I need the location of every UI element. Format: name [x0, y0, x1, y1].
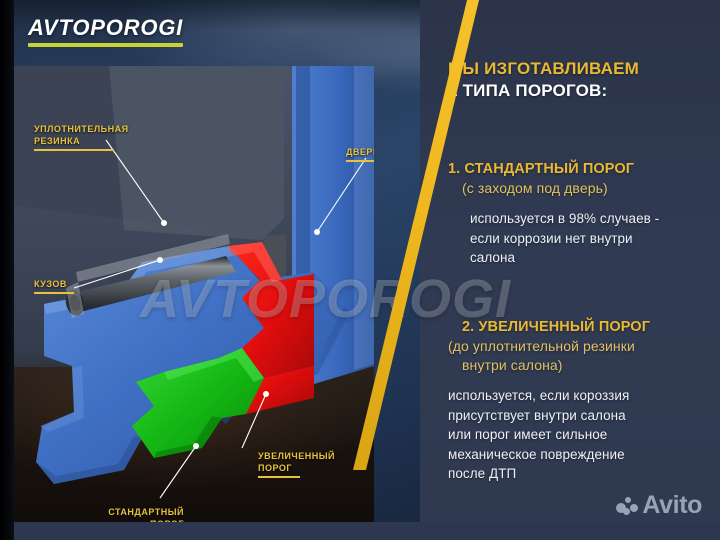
poster-root: УПЛОТНИТЕЛЬНАЯ РЕЗИНКА ДВЕРЬ КУЗОВ СТАНД…: [0, 0, 720, 540]
frame-bottom-border: [0, 522, 720, 540]
sill-type-block-1: 1. СТАНДАРТНЫЙ ПОРОГ (с заходом под двер…: [448, 160, 710, 268]
callout-extended-underline: [258, 476, 300, 478]
callout-standard-line-1: СТАНДАРТНЫЙ: [92, 506, 184, 518]
callout-extended-sill: УВЕЛИЧЕННЫЙ ПОРОГ: [258, 450, 335, 478]
callout-extended-line-1: УВЕЛИЧЕННЫЙ: [258, 450, 335, 462]
sill-cross-section-diagram: УПЛОТНИТЕЛЬНАЯ РЕЗИНКА ДВЕРЬ КУЗОВ СТАНД…: [14, 66, 374, 522]
door-highlight: [354, 66, 374, 370]
block-1-title: 1. СТАНДАРТНЫЙ ПОРОГ: [448, 160, 710, 179]
block-2-subtitle-line-1: (до уплотнительной резинки: [448, 337, 710, 356]
block-1-body-line-3: салона: [470, 248, 710, 268]
block-2-subtitle: (до уплотнительной резинки внутри салона…: [448, 337, 710, 375]
info-panel: МЫ ИЗГОТАВЛИВАЕМ 2 ТИПА ПОРОГОВ: 1. СТАН…: [420, 0, 720, 540]
block-2-body-line-1: используется, если короззия: [448, 386, 710, 406]
callout-seal-line-2: РЕЗИНКА: [34, 135, 129, 147]
brand-logo: AVTOPOROGI: [28, 17, 183, 47]
block-1-subtitle: (с заходом под дверь): [448, 179, 710, 198]
avito-dots-icon: [616, 496, 638, 516]
block-1-body-line-2: если коррозии нет внутри: [470, 229, 710, 249]
avito-wordmark: Avito: [642, 493, 702, 518]
panel-subhead: 2 ТИПА ПОРОГОВ:: [448, 80, 706, 102]
cabin-wall-highlight: [109, 66, 284, 240]
brand-logo-text: AVTOPOROGI: [28, 17, 183, 39]
brand-logo-underline: [28, 43, 183, 47]
block-2-title: 2. УВЕЛИЧЕННЫЙ ПОРОГ: [448, 318, 710, 337]
block-2-body-line-2: присутствует внутри салона: [448, 406, 710, 426]
block-1-body-line-1: используется в 98% случаев -: [470, 209, 710, 229]
block-2-subtitle-line-2: внутри салона): [448, 356, 710, 375]
callout-door-line-1: ДВЕРЬ: [346, 146, 374, 158]
callout-body-line-1: КУЗОВ: [34, 278, 74, 290]
info-panel-header: МЫ ИЗГОТАВЛИВАЕМ 2 ТИПА ПОРОГОВ:: [448, 0, 706, 102]
block-2-body-line-4: механическое повреждение: [448, 445, 710, 465]
sill-type-block-2: 2. УВЕЛИЧЕННЫЙ ПОРОГ (до уплотнительной …: [448, 318, 710, 484]
callout-seal-underline: [34, 149, 114, 151]
block-2-body-line-3: или порог имеет сильное: [448, 425, 710, 445]
avito-watermark: Avito: [616, 493, 702, 518]
panel-headline: МЫ ИЗГОТАВЛИВАЕМ: [448, 58, 706, 80]
block-2-body-line-5: после ДТП: [448, 464, 710, 484]
callout-extended-line-2: ПОРОГ: [258, 462, 335, 474]
callout-body-underline: [34, 292, 74, 294]
callout-door: ДВЕРЬ: [346, 146, 374, 162]
callout-door-underline: [346, 160, 374, 162]
callout-seal: УПЛОТНИТЕЛЬНАЯ РЕЗИНКА: [34, 123, 129, 151]
callout-standard-sill: СТАНДАРТНЫЙ ПОРОГ: [92, 506, 184, 522]
frame-left-border: [0, 0, 14, 540]
block-1-body: используется в 98% случаев - если корроз…: [448, 209, 710, 268]
callout-seal-line-1: УПЛОТНИТЕЛЬНАЯ: [34, 123, 129, 135]
callout-body: КУЗОВ: [34, 278, 74, 294]
block-2-body: используется, если короззия присутствует…: [448, 386, 710, 484]
